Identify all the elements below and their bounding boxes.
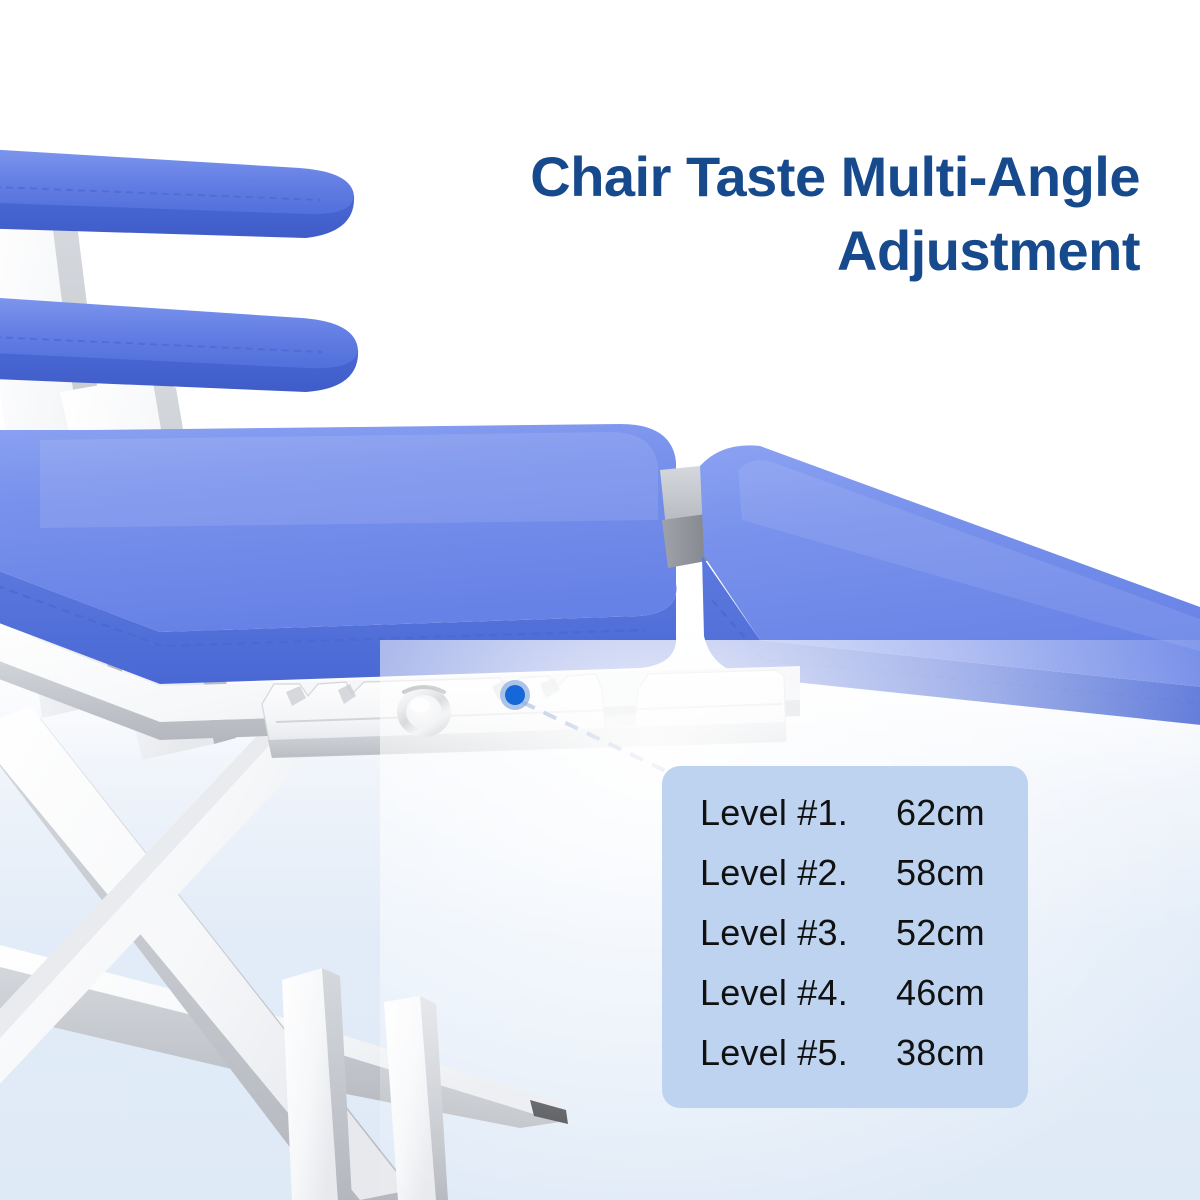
- product-marketing-image: Chair Taste Multi-Angle Adjustment Level…: [0, 0, 1200, 1200]
- level-value: 38cm: [896, 1032, 1026, 1074]
- level-label: Level #3.: [700, 912, 896, 954]
- backrest-rail-top: [0, 148, 354, 238]
- level-label: Level #1.: [700, 792, 896, 834]
- cross-legs: [0, 690, 448, 1200]
- level-value: 52cm: [896, 912, 1026, 954]
- level-value: 62cm: [896, 792, 1026, 834]
- level-value: 46cm: [896, 972, 1026, 1014]
- level-label: Level #2.: [700, 852, 896, 894]
- seat-cushion: [0, 424, 676, 684]
- backrest-rail-bottom: [0, 296, 358, 392]
- level-row: Level #4. 46cm: [662, 972, 1028, 1032]
- locking-knob[interactable]: [397, 687, 451, 737]
- level-height-panel: Level #1. 62cm Level #2. 58cm Level #3. …: [662, 766, 1028, 1108]
- level-row: Level #2. 58cm: [662, 852, 1028, 912]
- level-row: Level #3. 52cm: [662, 912, 1028, 972]
- level-label: Level #5.: [700, 1032, 896, 1074]
- level-value: 58cm: [896, 852, 1026, 894]
- page-title: Chair Taste Multi-Angle Adjustment: [380, 140, 1140, 288]
- marker-core: [505, 685, 525, 705]
- level-label: Level #4.: [700, 972, 896, 1014]
- level-row: Level #1. 62cm: [662, 792, 1028, 852]
- level-row: Level #5. 38cm: [662, 1032, 1028, 1092]
- adjustment-notch-marker[interactable]: [500, 680, 530, 710]
